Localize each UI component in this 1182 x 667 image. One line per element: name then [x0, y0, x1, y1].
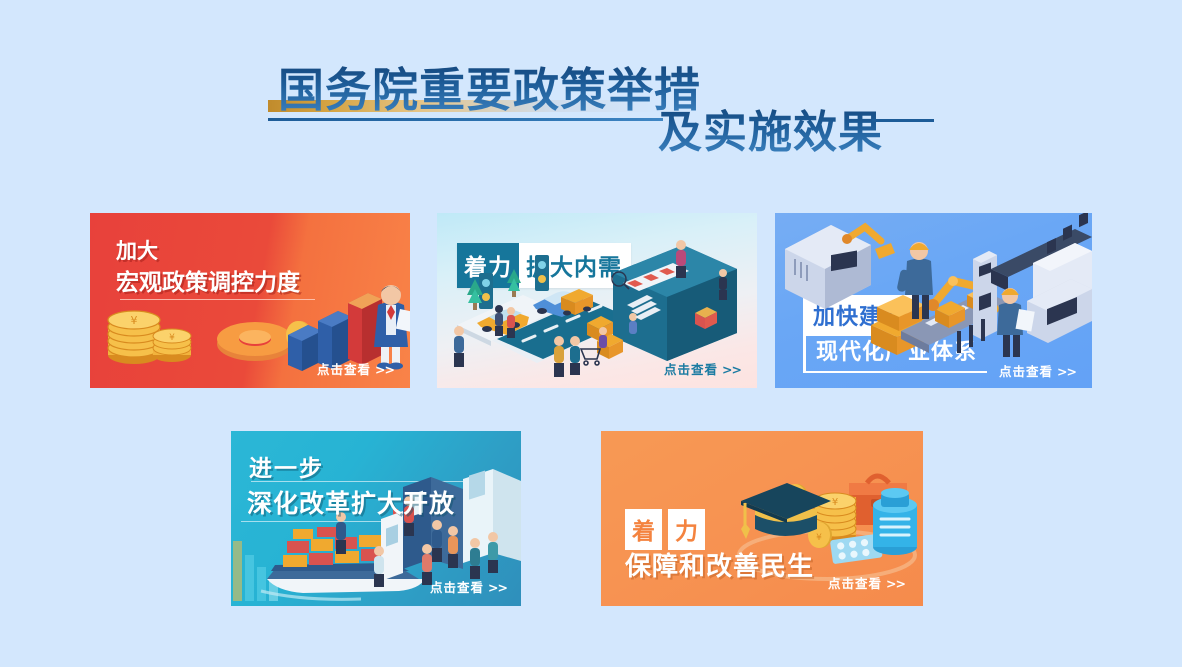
- card4-divider-bottom: [241, 521, 509, 522]
- card1-cta-arrows: >>: [375, 362, 394, 377]
- card5-title-line2: 保障和改善民生: [625, 546, 814, 583]
- card4-cta-arrows: >>: [488, 580, 507, 595]
- page-title-line2: 及实施效果: [658, 96, 883, 160]
- card2-title-tag-b: 扩大内需: [519, 243, 631, 288]
- card4-title-line2: 深化改革扩大开放: [247, 484, 455, 520]
- svg-text:¥: ¥: [832, 497, 838, 508]
- card5-cta-label: 点击查看: [828, 576, 882, 591]
- card4-cta-label: 点击查看: [430, 580, 484, 595]
- card5-title-tag-b: 力: [668, 509, 705, 550]
- card5-cta[interactable]: 点击查看>>: [828, 573, 905, 592]
- card3-cta-arrows: >>: [1057, 364, 1076, 379]
- card2-cta-arrows: >>: [722, 362, 741, 377]
- card2-title-tag-a: 着力: [457, 243, 519, 288]
- policy-card-expand-demand[interactable]: 着力 扩大内需 点击查看>>: [437, 213, 757, 388]
- policy-card-modern-industry[interactable]: 加快建设 现代化产业体系 点击查看>>: [775, 213, 1092, 388]
- svg-text:¥: ¥: [816, 533, 822, 543]
- policy-card-macro-control[interactable]: ¥ ¥ ¥: [90, 213, 410, 388]
- card5-title-block: 着 力: [625, 509, 705, 550]
- page-root: 国务院重要政策举措 及实施效果 ¥: [0, 0, 1182, 667]
- card1-divider: [120, 299, 315, 300]
- card4-title-line1: 进一步: [249, 449, 324, 483]
- card1-cta-label: 点击查看: [317, 362, 371, 377]
- svg-text:¥: ¥: [169, 333, 175, 343]
- card5-cta-arrows: >>: [886, 576, 905, 591]
- policy-card-reform-opening[interactable]: 进一步 深化改革扩大开放 点击查看>>: [231, 431, 521, 606]
- svg-text:¥: ¥: [792, 495, 798, 505]
- policy-card-livelihood[interactable]: ¥ ¥ ¥: [601, 431, 923, 606]
- page-header: 国务院重要政策举措 及实施效果: [0, 0, 1182, 165]
- card1-cta[interactable]: 点击查看>>: [317, 359, 394, 378]
- card3-title-tag-b: 现代化产业体系: [803, 330, 987, 373]
- card4-cta[interactable]: 点击查看>>: [430, 577, 507, 596]
- card2-cta[interactable]: 点击查看>>: [664, 359, 741, 378]
- card2-cta-label: 点击查看: [664, 362, 718, 377]
- card3-cta-label: 点击查看: [999, 364, 1053, 379]
- card1-title-line1: 加大: [116, 235, 158, 265]
- card5-title-tag-a: 着: [625, 509, 662, 550]
- page-title-line1: 国务院重要政策举措: [278, 54, 701, 120]
- card2-title-block: 着力 扩大内需: [457, 243, 631, 288]
- title-rule-right: [872, 119, 934, 122]
- card3-cta[interactable]: 点击查看>>: [999, 361, 1076, 380]
- card1-title-line2: 宏观政策调控力度: [116, 263, 300, 297]
- svg-text:¥: ¥: [295, 332, 301, 343]
- svg-text:¥: ¥: [131, 314, 138, 327]
